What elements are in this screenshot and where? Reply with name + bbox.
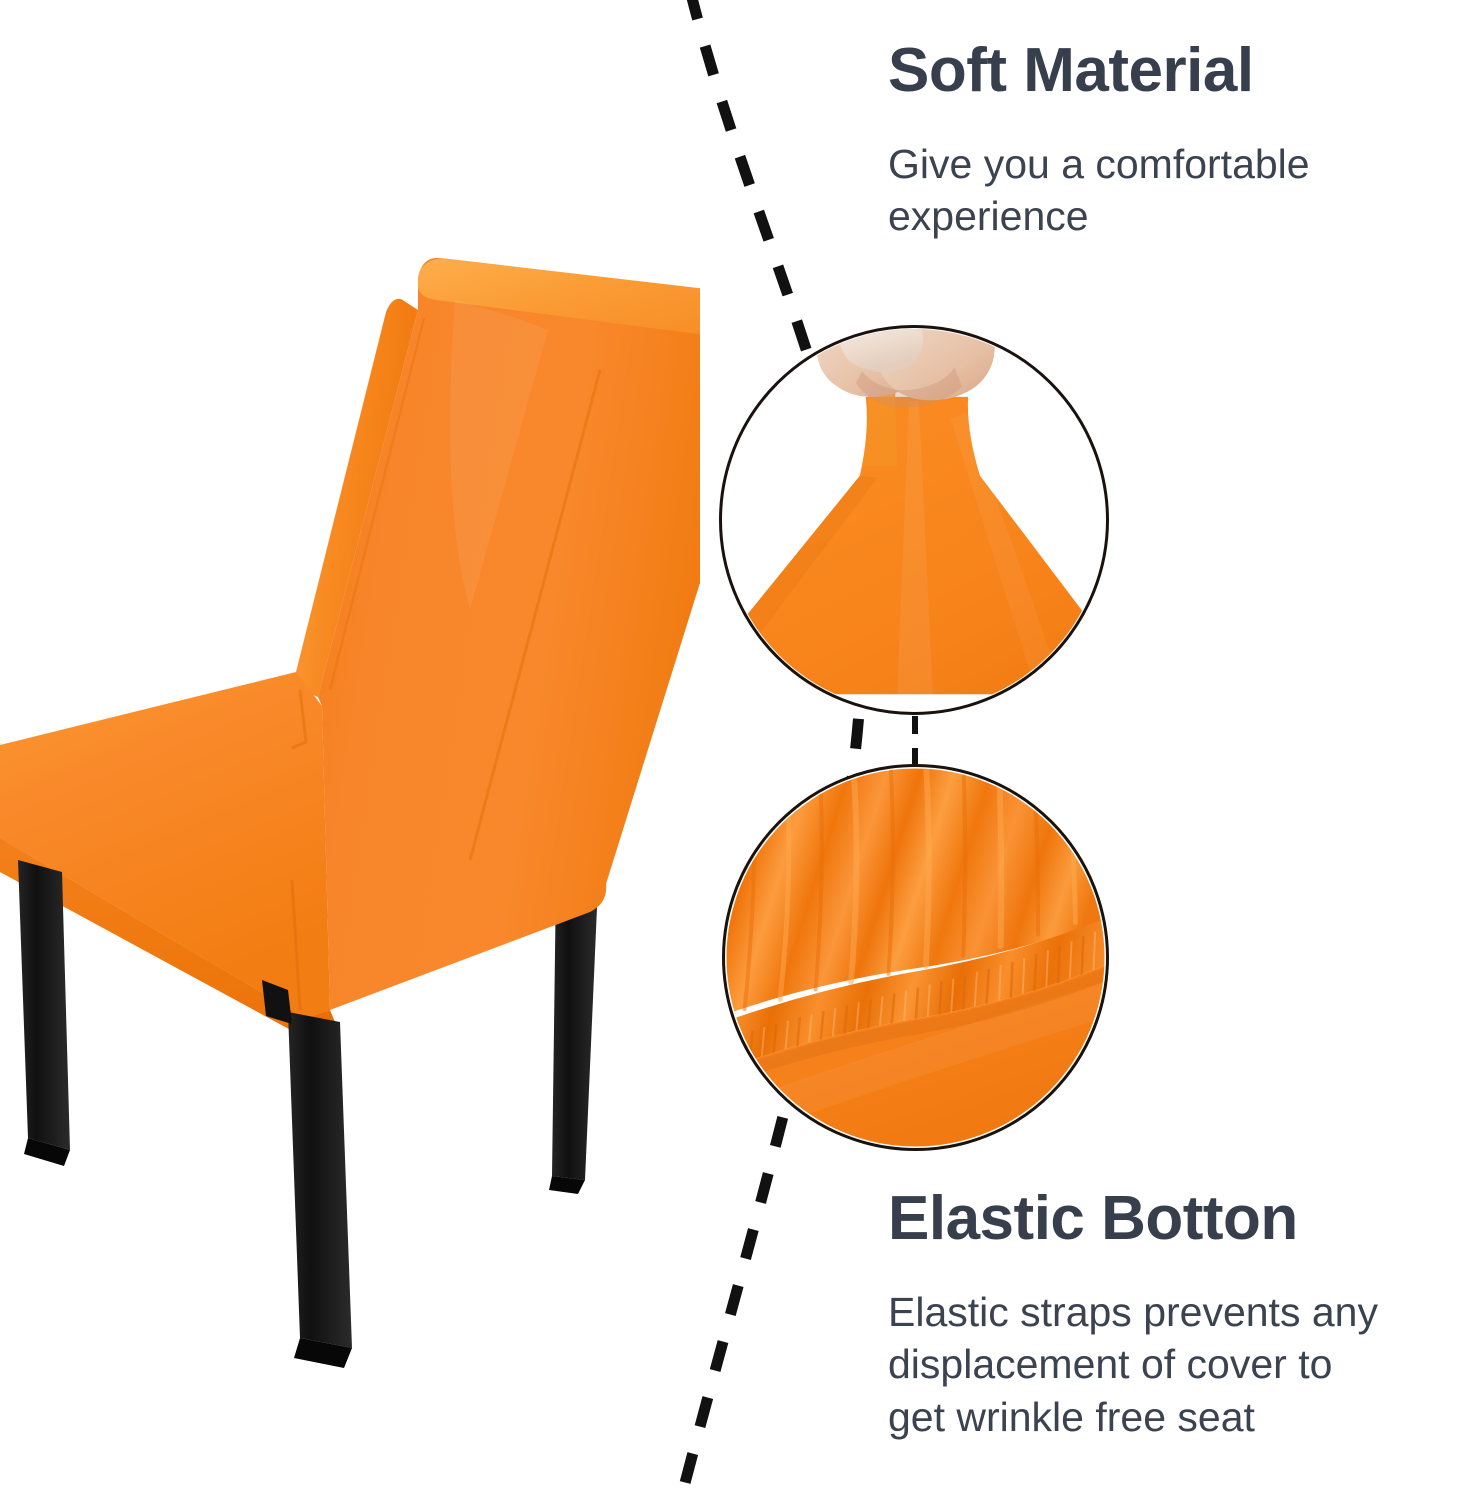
chair-leg-rear-right bbox=[549, 880, 598, 1194]
infographic-canvas: Soft Material Give you a comfortable exp… bbox=[0, 0, 1464, 1500]
product-photo bbox=[0, 0, 700, 1500]
dashed-vertical-connector bbox=[912, 716, 918, 764]
soft-material-title: Soft Material bbox=[888, 38, 1408, 104]
elastic-botton-title: Elastic Botton bbox=[888, 1186, 1433, 1252]
soft-material-zoom-circle bbox=[719, 325, 1109, 715]
soft-material-description: Give you a comfortable experience bbox=[888, 138, 1408, 243]
description-line: experience bbox=[888, 190, 1408, 242]
description-line: displacement of cover to bbox=[888, 1338, 1433, 1390]
elastic-botton-feature: Elastic Botton Elastic straps prevents a… bbox=[888, 1186, 1433, 1443]
chair-back bbox=[295, 258, 700, 1010]
fingers-pinching-fabric-icon bbox=[722, 328, 1106, 712]
elastic-botton-zoom-circle bbox=[722, 764, 1109, 1151]
description-line: Give you a comfortable bbox=[888, 138, 1408, 190]
elastic-gathered-hem-icon bbox=[725, 767, 1106, 1148]
elastic-botton-description: Elastic straps prevents any displacement… bbox=[888, 1286, 1433, 1443]
chair-illustration bbox=[0, 0, 700, 1500]
description-line: get wrinkle free seat bbox=[888, 1391, 1433, 1443]
description-line: Elastic straps prevents any bbox=[888, 1286, 1433, 1338]
chair-leg-front-left bbox=[18, 860, 70, 1166]
chair-leg-front-right bbox=[288, 1012, 352, 1368]
soft-material-feature: Soft Material Give you a comfortable exp… bbox=[888, 38, 1408, 243]
